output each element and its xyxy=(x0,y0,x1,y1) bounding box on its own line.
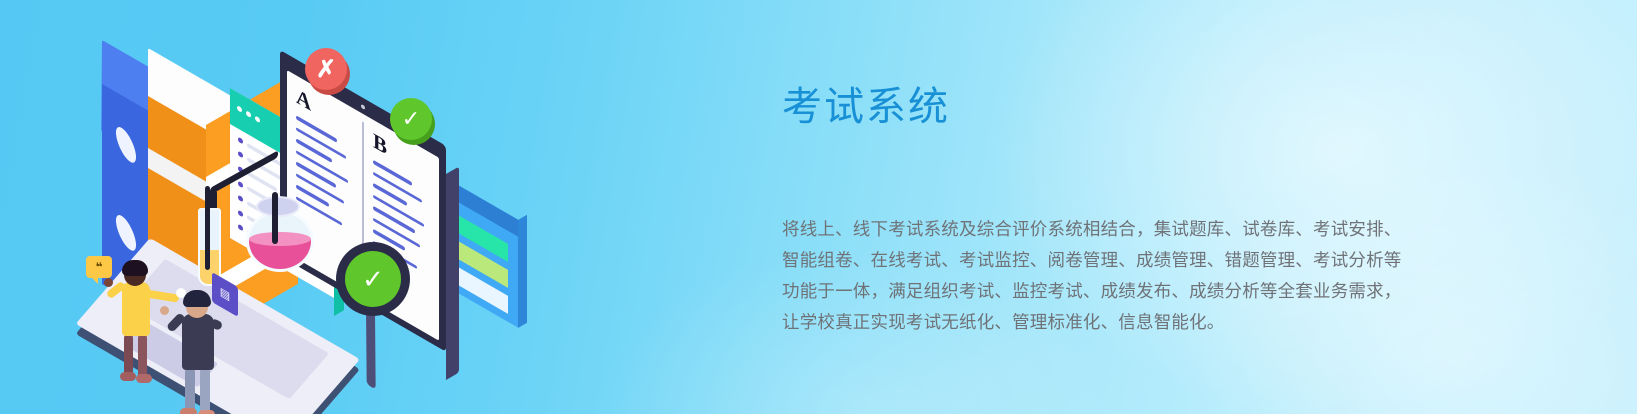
woman-leg xyxy=(138,334,147,378)
man-shoe xyxy=(198,410,215,414)
description-line: 将线上、线下考试系统及综合评价系统相结合，集试题库、试卷库、考试安排、 xyxy=(782,214,1512,245)
woman-body xyxy=(122,282,150,336)
flask-neck-icon xyxy=(272,192,278,244)
exam-system-illustration: A B xyxy=(60,20,620,400)
woman-shoe xyxy=(136,374,152,383)
page-title: 考试系统 xyxy=(782,84,1512,130)
window-dots-icon xyxy=(237,105,260,123)
binder-hole-icon xyxy=(115,208,138,258)
description-line: 智能组卷、在线考试、考试监控、阅卷管理、成绩管理、错题管理、考试分析等 xyxy=(782,245,1512,276)
banner-copy: 考试系统 将线上、线下考试系统及综合评价系统相结合，集试题库、试卷库、考试安排、… xyxy=(782,84,1512,338)
magnifier-ring-icon: ✓ xyxy=(336,242,410,316)
flask-collar-icon xyxy=(256,196,300,217)
woman-hand xyxy=(104,278,113,287)
laptop-screen-edge xyxy=(446,166,459,380)
flask-icon xyxy=(246,210,314,272)
magnifier-handle-icon xyxy=(366,306,376,390)
description-line: 功能于一体，满足组织考试、监控考试、成绩发布、成绩分析等全套业务需求， xyxy=(782,276,1512,307)
blue-window-side-icon xyxy=(518,215,527,328)
speech-bubble-icon: ❝ xyxy=(86,256,112,278)
banner-description: 将线上、线下考试系统及综合评价系统相结合，集试题库、试卷库、考试安排、 智能组卷… xyxy=(782,130,1512,338)
stirring-rod-icon xyxy=(205,186,210,270)
man-hand xyxy=(160,306,169,315)
woman-shoe xyxy=(120,372,136,381)
webcam-icon xyxy=(361,104,365,110)
book-band-icon xyxy=(148,148,206,201)
flask-liquid xyxy=(249,239,311,269)
correct-answer-badge-icon: ✓ xyxy=(390,98,432,140)
man-shoe xyxy=(180,408,197,414)
man-hair xyxy=(183,290,211,307)
man-leg xyxy=(200,368,210,414)
hero-banner: A B xyxy=(0,0,1637,414)
man-body xyxy=(182,314,214,370)
binder-hole-icon xyxy=(115,120,138,170)
woman-hair xyxy=(122,260,148,276)
wrong-answer-badge-icon: ✗ xyxy=(305,48,347,90)
magnifier-check-icon: ✓ xyxy=(345,251,401,307)
description-line: 让学校真正实现考试无纸化、管理标准化、信息智能化。 xyxy=(782,307,1512,338)
